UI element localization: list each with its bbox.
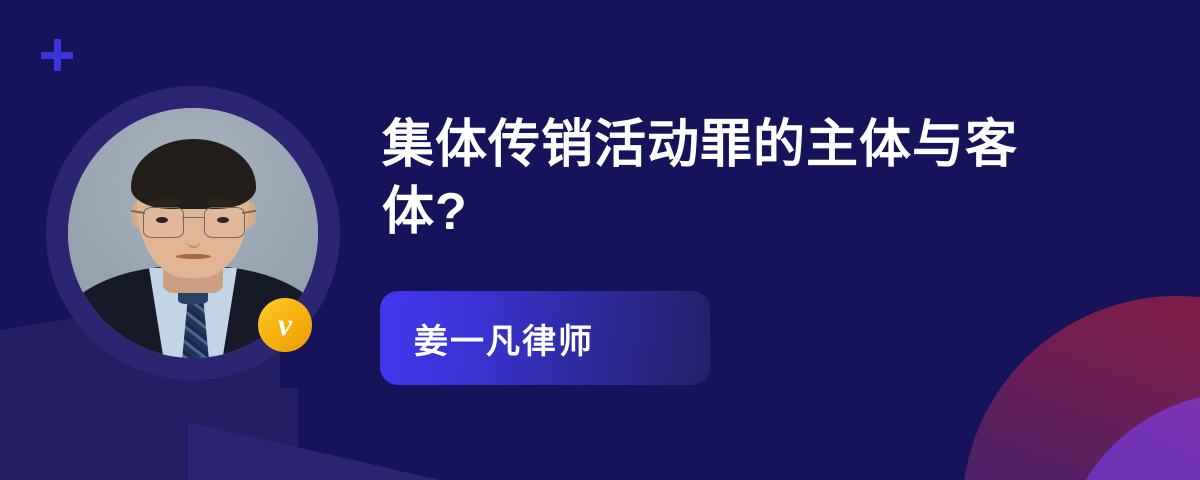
portrait-glasses-lens-left — [143, 207, 184, 238]
portrait-hair — [131, 139, 256, 209]
plus-icon-vertical-bar — [54, 39, 61, 71]
question-title: 集体传销活动罪的主体与客体? — [382, 112, 1072, 245]
portrait-mouth — [176, 254, 211, 259]
lawyer-qa-banner: v 集体传销活动罪的主体与客体? 姜一凡律师 — [0, 0, 1200, 480]
lawyer-name-label: 姜一凡律师 — [380, 314, 594, 363]
portrait-nose — [186, 231, 201, 248]
verified-badge-glyph: v — [278, 308, 292, 340]
plus-icon — [41, 39, 73, 71]
portrait-glasses-lens-right — [204, 207, 245, 238]
lawyer-name-badge[interactable]: 姜一凡律师 — [380, 291, 710, 385]
verified-badge-icon: v — [258, 298, 312, 352]
banner-content: 集体传销活动罪的主体与客体? — [382, 112, 1082, 245]
portrait-glasses-bridge — [182, 217, 205, 219]
